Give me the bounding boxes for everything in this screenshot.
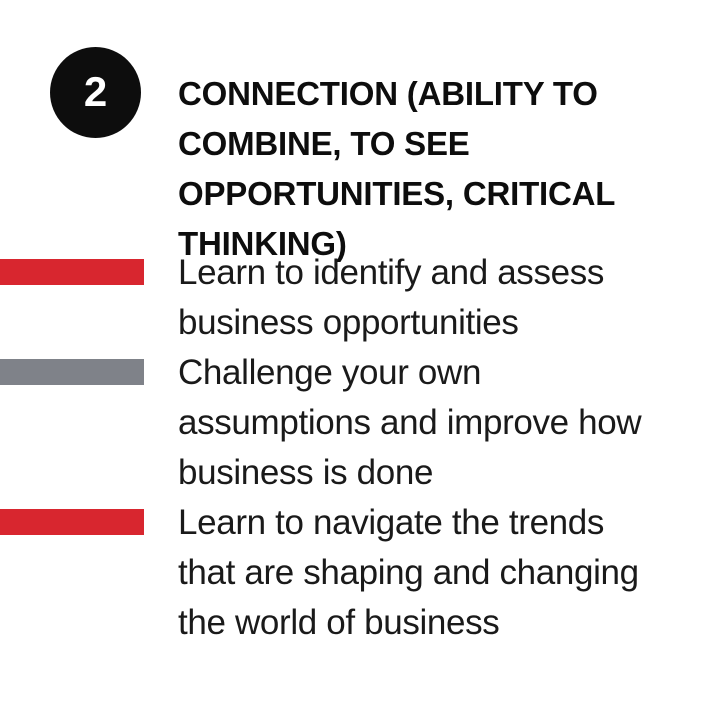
step-number-label: 2 [84, 71, 107, 113]
page-title: CONNECTION (ABILITY TO COMBINE, TO SEE O… [178, 69, 648, 269]
bullet-marker-icon [0, 359, 144, 385]
list-item: Learn to identify and assess business op… [0, 248, 720, 348]
slide-canvas: 2 CONNECTION (ABILITY TO COMBINE, TO SEE… [0, 0, 720, 720]
step-number-badge: 2 [50, 47, 141, 138]
bullet-marker-icon [0, 509, 144, 535]
list-item: Learn to navigate the trends that are sh… [0, 498, 720, 648]
bullet-marker-icon [0, 259, 144, 285]
bullet-list: Learn to identify and assess business op… [0, 248, 720, 648]
list-item: Challenge your own assumptions and impro… [0, 348, 720, 498]
